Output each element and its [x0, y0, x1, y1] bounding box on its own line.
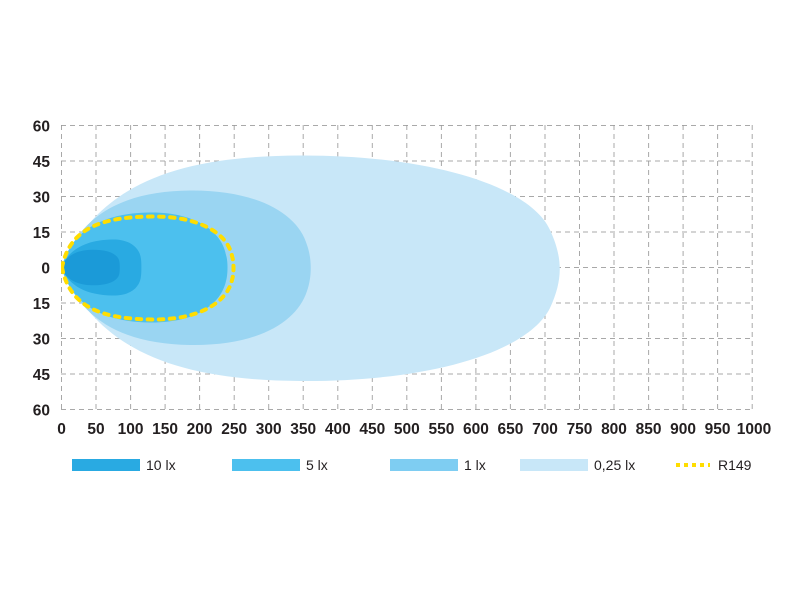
legend-item-r149[interactable]: R149: [676, 457, 752, 473]
x-tick-label: 700: [532, 421, 558, 438]
y-tick-label: 0: [41, 261, 50, 278]
legend-label-5lx: 5 lx: [306, 457, 328, 473]
x-tick-label: 0: [57, 421, 66, 438]
x-tick-label: 300: [256, 421, 282, 438]
legend-swatch-025lx: [520, 459, 588, 471]
x-tick-label: 250: [221, 421, 247, 438]
legend-label-r149: R149: [718, 457, 752, 473]
x-tick-label: 650: [497, 421, 523, 438]
y-tick-label: 45: [33, 367, 51, 384]
x-tick-label: 450: [359, 421, 385, 438]
x-tick-label: 600: [463, 421, 489, 438]
legend-item-10lx[interactable]: 10 lx: [72, 457, 176, 473]
y-tick-label: 30: [33, 332, 50, 349]
y-tick-label: 30: [33, 190, 50, 207]
y-tick-label: 60: [33, 119, 50, 136]
beam-pattern-plot: 60 45 30 15 0 15 30 45 60 0 50 100 150 2…: [0, 0, 800, 600]
x-tick-label: 550: [428, 421, 454, 438]
y-axis-tick-labels: 60 45 30 15 0 15 30 45 60: [33, 119, 51, 420]
x-tick-label: 150: [152, 421, 178, 438]
beam-isolux-zones: [62, 155, 560, 381]
x-tick-label: 100: [118, 421, 144, 438]
x-tick-label: 1000: [737, 421, 771, 438]
y-tick-label: 15: [33, 225, 51, 242]
legend-swatch-1lx: [390, 459, 458, 471]
x-tick-label: 900: [670, 421, 696, 438]
y-tick-label: 15: [33, 296, 51, 313]
legend-item-5lx[interactable]: 5 lx: [232, 457, 328, 473]
x-tick-label: 400: [325, 421, 351, 438]
x-tick-label: 50: [87, 421, 104, 438]
chart-legend: 10 lx 5 lx 1 lx 0,25 lx R149: [72, 457, 752, 473]
x-tick-label: 800: [601, 421, 627, 438]
x-tick-label: 350: [290, 421, 316, 438]
x-tick-label: 200: [187, 421, 213, 438]
y-tick-label: 45: [33, 154, 51, 171]
legend-item-025lx[interactable]: 0,25 lx: [520, 457, 635, 473]
x-tick-label: 950: [705, 421, 731, 438]
light-distribution-chart: 60 45 30 15 0 15 30 45 60 0 50 100 150 2…: [0, 0, 800, 600]
y-tick-label: 60: [33, 403, 50, 420]
legend-swatch-10lx: [72, 459, 140, 471]
x-tick-label: 850: [636, 421, 662, 438]
legend-swatch-5lx: [232, 459, 300, 471]
x-tick-label: 750: [567, 421, 593, 438]
x-axis-tick-labels: 0 50 100 150 200 250 300 350 400 450 500…: [57, 421, 771, 438]
x-tick-label: 500: [394, 421, 420, 438]
legend-item-1lx[interactable]: 1 lx: [390, 457, 486, 473]
legend-label-1lx: 1 lx: [464, 457, 486, 473]
legend-label-025lx: 0,25 lx: [594, 457, 635, 473]
legend-label-10lx: 10 lx: [146, 457, 176, 473]
